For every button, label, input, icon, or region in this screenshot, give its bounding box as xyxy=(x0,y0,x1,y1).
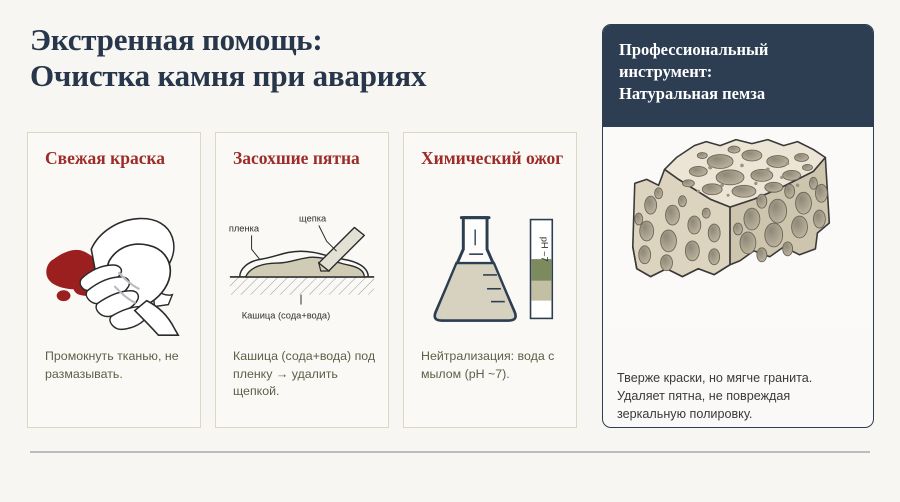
panel-caption: Тверже краски, но мягче гранита. Удаляет… xyxy=(617,369,861,423)
card-title: Химический ожог xyxy=(421,147,566,170)
pro-tool-panel[interactable]: Профессиональный инструмент: Натуральная… xyxy=(602,24,874,428)
card-body-text: Нейтрализация: вода с мылом (pH ~7). xyxy=(421,348,565,383)
diagram-label-schepka: щепка xyxy=(299,214,327,224)
card-fresh-paint[interactable]: Свежая краска xyxy=(27,132,201,428)
page-title-line-1: Экстренная помощь: xyxy=(30,22,590,58)
panel-header-line-1: Профессиональный xyxy=(619,39,857,61)
panel-header-line-2: инструмент: xyxy=(619,61,857,83)
card-dried-stains[interactable]: Засохшие пятна xyxy=(215,132,389,428)
page-title: Экстренная помощь: Очистка камня при ава… xyxy=(30,22,590,94)
panel-header-line-3: Натуральная пемза xyxy=(619,83,857,105)
card-body-text: Кашица (сода+вода) под пленку → удалить … xyxy=(233,348,377,401)
infographic-page: Экстренная помощь: Очистка камня при ава… xyxy=(0,0,900,502)
bottom-divider xyxy=(30,451,870,453)
diagram-label-kashitsa: Кашица (сода+вода) xyxy=(242,310,331,320)
card-group: Свежая краска xyxy=(27,132,577,428)
diagram-label-plenka: пленка xyxy=(229,223,260,233)
card-body-text: Промокнуть тканью, не размазывать. xyxy=(45,348,189,383)
pumice-block-illustration-icon xyxy=(603,127,873,327)
panel-header: Профессиональный инструмент: Натуральная… xyxy=(603,25,873,127)
card-chemical-burn[interactable]: Химический ожог xyxy=(403,132,577,428)
poultice-under-film-diagram-icon: пленка щепка Кашица (сода+вода) xyxy=(216,201,388,336)
card-title: Свежая краска xyxy=(45,147,190,170)
card-title: Засохшие пятна xyxy=(233,147,378,170)
page-title-line-2: Очистка камня при авариях xyxy=(30,58,590,94)
ph-strip-label: pH ~7 xyxy=(539,237,549,262)
flask-and-ph-strip-icon: pH ~7 xyxy=(404,201,576,336)
hand-blotting-paint-spill-icon xyxy=(28,201,200,336)
